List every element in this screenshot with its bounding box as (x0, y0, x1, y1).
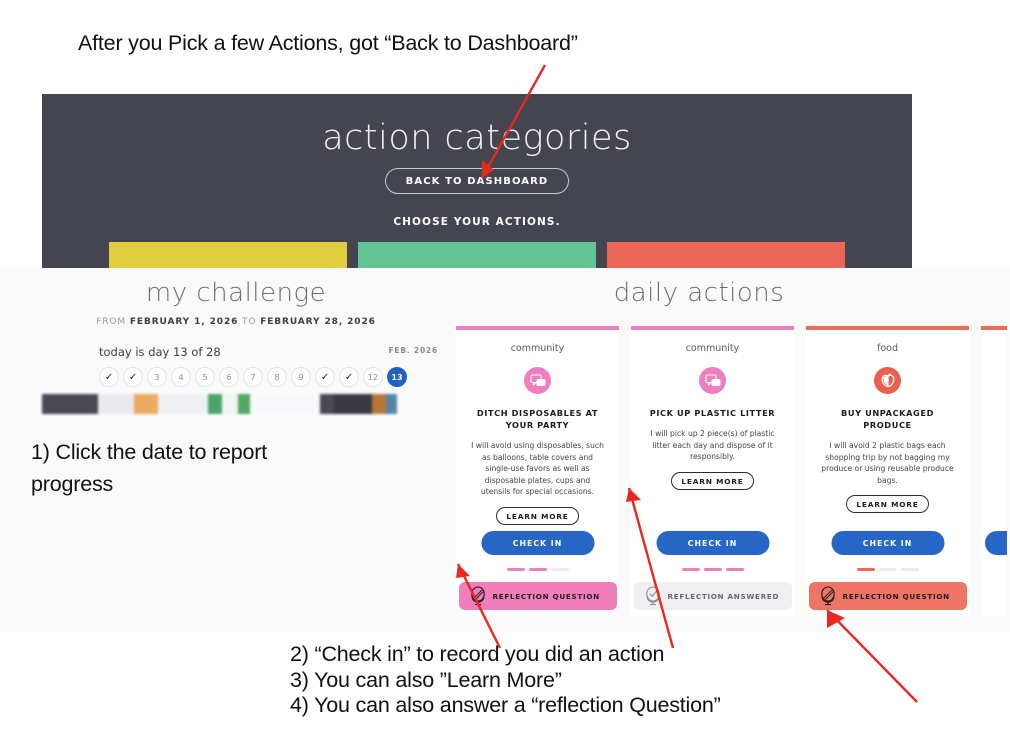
card-accent-bar (981, 326, 1007, 330)
card-accent-bar (631, 326, 794, 330)
reflection-label: REFLECTION QUESTION (843, 592, 950, 601)
reflection-label: REFLECTION ANSWERED (668, 592, 780, 601)
day-circle-9[interactable]: 9 (291, 367, 311, 387)
daily-actions-panel: daily actions communityDITCH DISPOSABLES… (398, 268, 1010, 632)
day-circle-7[interactable]: 7 (243, 367, 263, 387)
back-to-dashboard-wrap: BACK TO DASHBOARD (42, 168, 912, 194)
card-accent-bar (456, 326, 619, 330)
progress-dash (901, 568, 919, 571)
progress-dash (682, 568, 700, 571)
day-circle-1[interactable]: ✓ (99, 367, 119, 387)
range-prefix: FROM (96, 317, 130, 327)
progress-dash (857, 568, 875, 571)
apple-icon (874, 367, 901, 394)
day-circle-12[interactable]: 12 (363, 367, 383, 387)
card-title: PICK UP PLASTIC LITTER (648, 407, 778, 419)
progress-dash (529, 568, 547, 571)
progress-dash (879, 568, 897, 571)
progress-dash (726, 568, 744, 571)
day-circle-10[interactable]: ✓ (315, 367, 335, 387)
microphone-icon (469, 586, 487, 606)
card-category-label: community (511, 343, 565, 354)
speech-bubbles-icon (530, 374, 546, 388)
microphone-icon (819, 586, 837, 606)
progress-dashes (682, 568, 744, 571)
challenge-progress-row: today is day 13 of 28 FEB. 2026 (99, 345, 438, 359)
choose-your-actions-label: CHOOSE YOUR ACTIONS. (42, 216, 912, 228)
blurred-photo-strip (42, 394, 397, 414)
microphone-icon (819, 586, 837, 606)
range-start: FEBRUARY 1, 2026 (130, 317, 238, 327)
day-circle-3[interactable]: 3 (147, 367, 167, 387)
progress-dash (704, 568, 722, 571)
card-title: BUY UNPACKAGED PRODUCE (823, 407, 953, 431)
action-categories-panel: action categories BACK TO DASHBOARD CHOO… (42, 94, 912, 277)
reflection-question-button[interactable]: REFLECTION QUESTION (459, 582, 617, 610)
action-card: communityDITCH DISPOSABLES AT YOUR PARTY… (456, 326, 619, 616)
action-card: communityPICK UP PLASTIC LITTERI will pi… (631, 326, 794, 616)
card-description: I will avoid using disposables, such as … (469, 440, 606, 498)
annotation-step-1: 1) Click the date to report progress (31, 436, 267, 500)
speech-bubbles-icon (524, 367, 551, 394)
day-circle-6[interactable]: 6 (219, 367, 239, 387)
day-circle-4[interactable]: 4 (171, 367, 191, 387)
microphone-check-icon (644, 586, 662, 606)
apple-icon (881, 373, 895, 388)
progress-dash (551, 568, 569, 571)
microphone-check-icon (644, 586, 662, 606)
speech-bubbles-icon (705, 374, 721, 388)
screenshot-canvas: After you Pick a few Actions, got “Back … (0, 0, 1010, 746)
range-end: FEBRUARY 28, 2026 (260, 317, 376, 327)
action-card: foodBUY UNPACKAGED PRODUCEI will avoid 2… (806, 326, 969, 616)
action-card-list: communityDITCH DISPOSABLES AT YOUR PARTY… (456, 326, 1007, 616)
range-mid: TO (238, 317, 260, 327)
progress-dashes (857, 568, 919, 571)
learn-more-button[interactable]: LEARN MORE (671, 472, 753, 490)
day-circle-2[interactable]: ✓ (123, 367, 143, 387)
day-circle-8[interactable]: 8 (267, 367, 287, 387)
card-accent-bar (806, 326, 969, 330)
day-circle-11[interactable]: ✓ (339, 367, 359, 387)
check-in-button[interactable]: CHECK IN (481, 531, 594, 555)
page-title: action categories (42, 118, 912, 158)
progress-dashes (507, 568, 569, 571)
card-description: I will pick up 2 piece(s) of plastic lit… (644, 428, 781, 463)
check-in-button[interactable]: CHECK IN (656, 531, 769, 555)
reflection-question-button[interactable]: REFLECTION QUESTION (809, 582, 967, 610)
card-category-label: food (877, 343, 898, 354)
reflection-answered-badge: REFLECTION ANSWERED (634, 582, 792, 610)
annotation-steps-2-4: 2) “Check in” to record you did an actio… (290, 642, 721, 719)
check-in-button[interactable]: CHECK IN (831, 531, 944, 555)
action-card-partial (981, 326, 1007, 616)
day-circle-5[interactable]: 5 (195, 367, 215, 387)
speech-bubbles-icon (699, 367, 726, 394)
learn-more-button[interactable]: LEARN MORE (846, 495, 928, 513)
daily-actions-title: daily actions (388, 278, 1010, 308)
microphone-icon (469, 586, 487, 606)
card-description: I will avoid 2 plastic bags each shoppin… (819, 440, 956, 486)
today-is-day-label: today is day 13 of 28 (99, 345, 221, 359)
reflection-label: REFLECTION QUESTION (493, 592, 600, 601)
card-category-label: community (686, 343, 740, 354)
back-to-dashboard-button[interactable]: BACK TO DASHBOARD (385, 168, 570, 194)
learn-more-button[interactable]: LEARN MORE (496, 507, 578, 525)
progress-dash (507, 568, 525, 571)
check-in-button[interactable] (985, 531, 1007, 555)
annotation-top-text: After you Pick a few Actions, got “Back … (78, 31, 578, 56)
card-title: DITCH DISPOSABLES AT YOUR PARTY (473, 407, 603, 431)
